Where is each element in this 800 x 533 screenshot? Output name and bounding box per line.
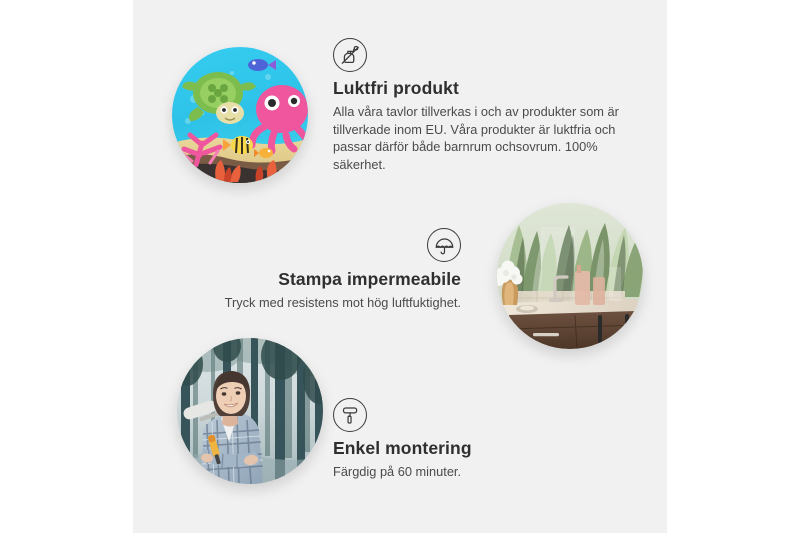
feature-title: Luktfri produkt (333, 78, 633, 99)
icon-wrap-waterproof (180, 228, 461, 262)
no-smell-spray-bottle-icon (333, 38, 367, 72)
icon-wrap-easy-mounting (333, 398, 623, 432)
umbrella-icon (427, 228, 461, 262)
feature-description: Alla våra tavlor tillverkas i och av pro… (333, 103, 633, 174)
feature-title: Stampa impermeabile (180, 269, 461, 290)
feature-odourless: Luktfri produkt Alla våra tavlor tillver… (333, 38, 633, 174)
feature-waterproof: Stampa impermeabile Tryck med resistens … (180, 228, 461, 312)
photo-bathroom-tropical-wallpaper (497, 203, 643, 349)
icon-wrap-odourless (333, 38, 633, 72)
paint-roller-icon (333, 398, 367, 432)
feature-description: Tryck med resistens mot hög luftfuktighe… (180, 294, 461, 312)
feature-description: Färgdig på 60 minuter. (333, 463, 623, 481)
photo-underwater-kids-mural (172, 47, 308, 183)
promo-graphic: Luktfri produkt Alla våra tavlor tillver… (0, 0, 800, 533)
feature-title: Enkel montering (333, 438, 623, 459)
feature-easy-mounting: Enkel montering Färgdig på 60 minuter. (333, 398, 623, 481)
photo-woman-painter-forest (177, 338, 323, 484)
